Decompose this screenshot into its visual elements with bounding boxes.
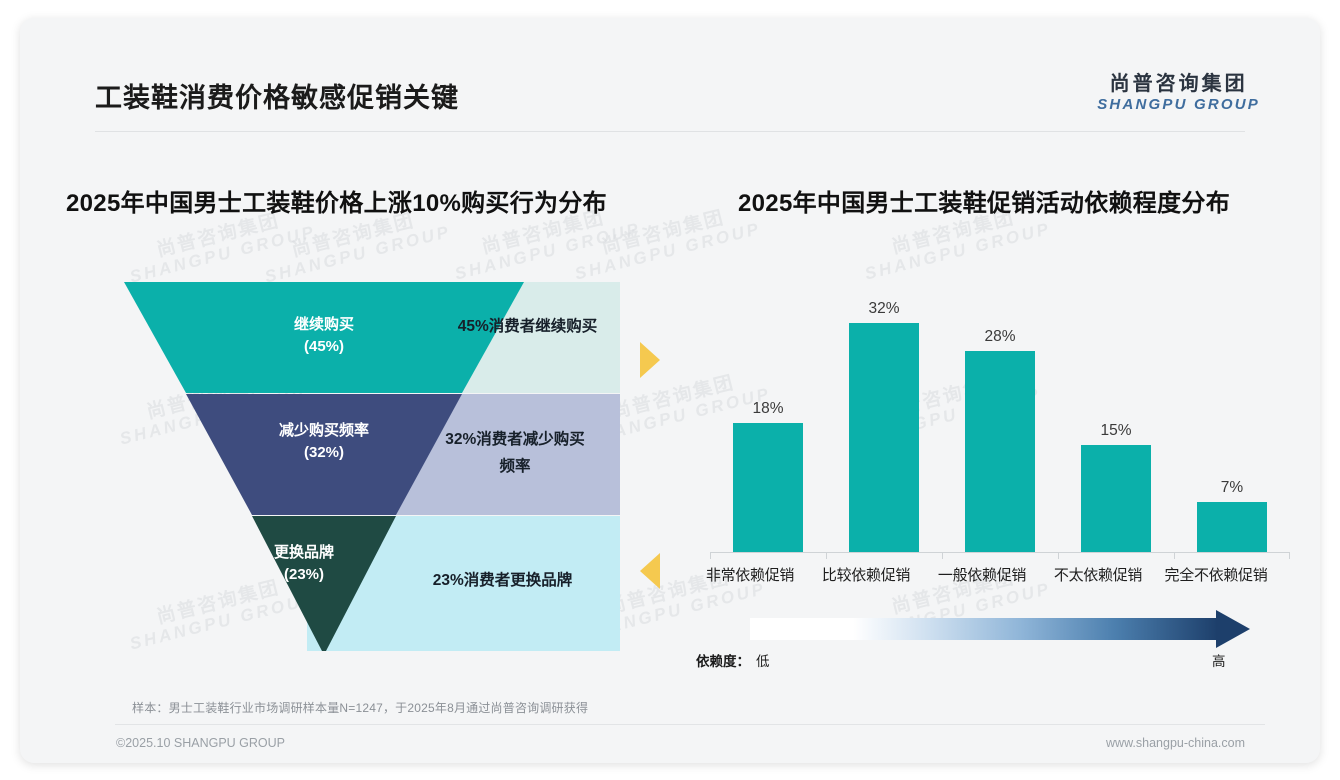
x-axis-label-0: 非常依赖促销	[688, 564, 812, 585]
x-axis-tick	[710, 552, 711, 559]
source-note: 样本：男士工装鞋行业市场调研样本量N=1247，于2025年8月通过尚普咨询调研…	[132, 699, 588, 716]
arrow-right-icon	[1216, 610, 1250, 648]
bar-value-4: 7%	[1174, 479, 1290, 497]
bar-2[interactable]	[965, 351, 1035, 552]
funnel-stage-value-0: (45%)	[304, 338, 344, 355]
slide-header: 工装鞋消费价格敏感促销关键 尚普咨询集团 SHANGPU GROUP	[20, 18, 1320, 128]
footer-divider	[115, 724, 1265, 725]
brand-logo: 尚普咨询集团 SHANGPU GROUP	[1097, 73, 1260, 114]
slide-canvas: 尚普咨询集团 SHANGPU GROUP 尚普咨询集团 SHANGPU GROU…	[20, 18, 1320, 763]
page-title: 工装鞋消费价格敏感促销关键	[95, 76, 459, 115]
x-axis-tick	[1174, 552, 1175, 559]
x-axis-label-3: 不太依赖促销	[1036, 564, 1160, 585]
bar-column[interactable]: 7%	[1174, 302, 1290, 552]
x-axis-label-1: 比较依赖促销	[804, 564, 928, 585]
funnel-stage-name-2: 更换品牌	[274, 544, 334, 561]
triangle-right-icon	[640, 342, 660, 378]
logo-en-text: SHANGPU GROUP	[1097, 96, 1260, 114]
x-axis-tick	[1058, 552, 1059, 559]
header-divider	[95, 131, 1245, 132]
bar-value-0: 18%	[710, 400, 826, 418]
left-chart-title: 2025年中国男士工装鞋价格上涨10%购买行为分布	[66, 183, 607, 218]
x-axis-label-2: 一般依赖促销	[920, 564, 1044, 585]
bar-column[interactable]: 32%	[826, 302, 942, 552]
website-link[interactable]: www.shangpu-china.com	[1106, 736, 1245, 750]
bar-chart: 18% 32% 28% 15% 7%	[710, 278, 1290, 578]
funnel-panel-text-0: 45%消费者继续购买	[440, 313, 615, 340]
funnel-band-label-0: 继续购买 (45%)	[194, 314, 454, 358]
logo-cn-text: 尚普咨询集团	[1097, 73, 1260, 96]
x-axis-tick	[826, 552, 827, 559]
x-axis-tick	[1289, 552, 1290, 559]
funnel-stage-value-2: (23%)	[284, 566, 324, 583]
bar-1[interactable]	[849, 323, 919, 552]
copyright-text: ©2025.10 SHANGPU GROUP	[116, 736, 285, 750]
bar-column[interactable]: 18%	[710, 302, 826, 552]
bar-value-1: 32%	[826, 300, 942, 318]
funnel-band-label-1: 减少购买频率 (32%)	[194, 420, 454, 464]
dependency-gradient-legend	[750, 614, 1260, 644]
gradient-bar	[750, 618, 1218, 640]
bar-column[interactable]: 28%	[942, 302, 1058, 552]
watermark-en: SHANGPU GROUP	[863, 220, 1053, 284]
funnel-stage-name-0: 继续购买	[294, 316, 354, 333]
legend-high-label: 高	[1212, 650, 1226, 670]
bar-column[interactable]: 15%	[1058, 302, 1174, 552]
bar-value-3: 15%	[1058, 422, 1174, 440]
bar-0[interactable]	[733, 423, 803, 552]
triangle-left-icon	[640, 553, 660, 589]
x-axis-tick	[942, 552, 943, 559]
funnel-chart: 继续购买 (45%) 减少购买频率 (32%) 更换品牌 (23%) 45%消费…	[20, 18, 680, 763]
funnel-panel-text-1: 32%消费者减少购买 频率	[420, 426, 610, 480]
funnel-panel-text-2: 23%消费者更换品牌	[400, 567, 605, 594]
bar-4[interactable]	[1197, 502, 1267, 552]
right-chart-title: 2025年中国男士工装鞋促销活动依赖程度分布	[738, 183, 1230, 218]
funnel-stage-value-1: (32%)	[304, 444, 344, 461]
legend-caption: 依赖度：	[696, 650, 750, 670]
bar-3[interactable]	[1081, 445, 1151, 552]
legend-low-label: 低	[756, 650, 770, 670]
bar-value-2: 28%	[942, 328, 1058, 346]
funnel-band-label-2: 更换品牌 (23%)	[184, 542, 424, 586]
x-axis-line	[710, 552, 1290, 553]
x-axis-label-4: 完全不依赖促销	[1148, 564, 1284, 585]
funnel-stage-name-1: 减少购买频率	[279, 422, 369, 439]
